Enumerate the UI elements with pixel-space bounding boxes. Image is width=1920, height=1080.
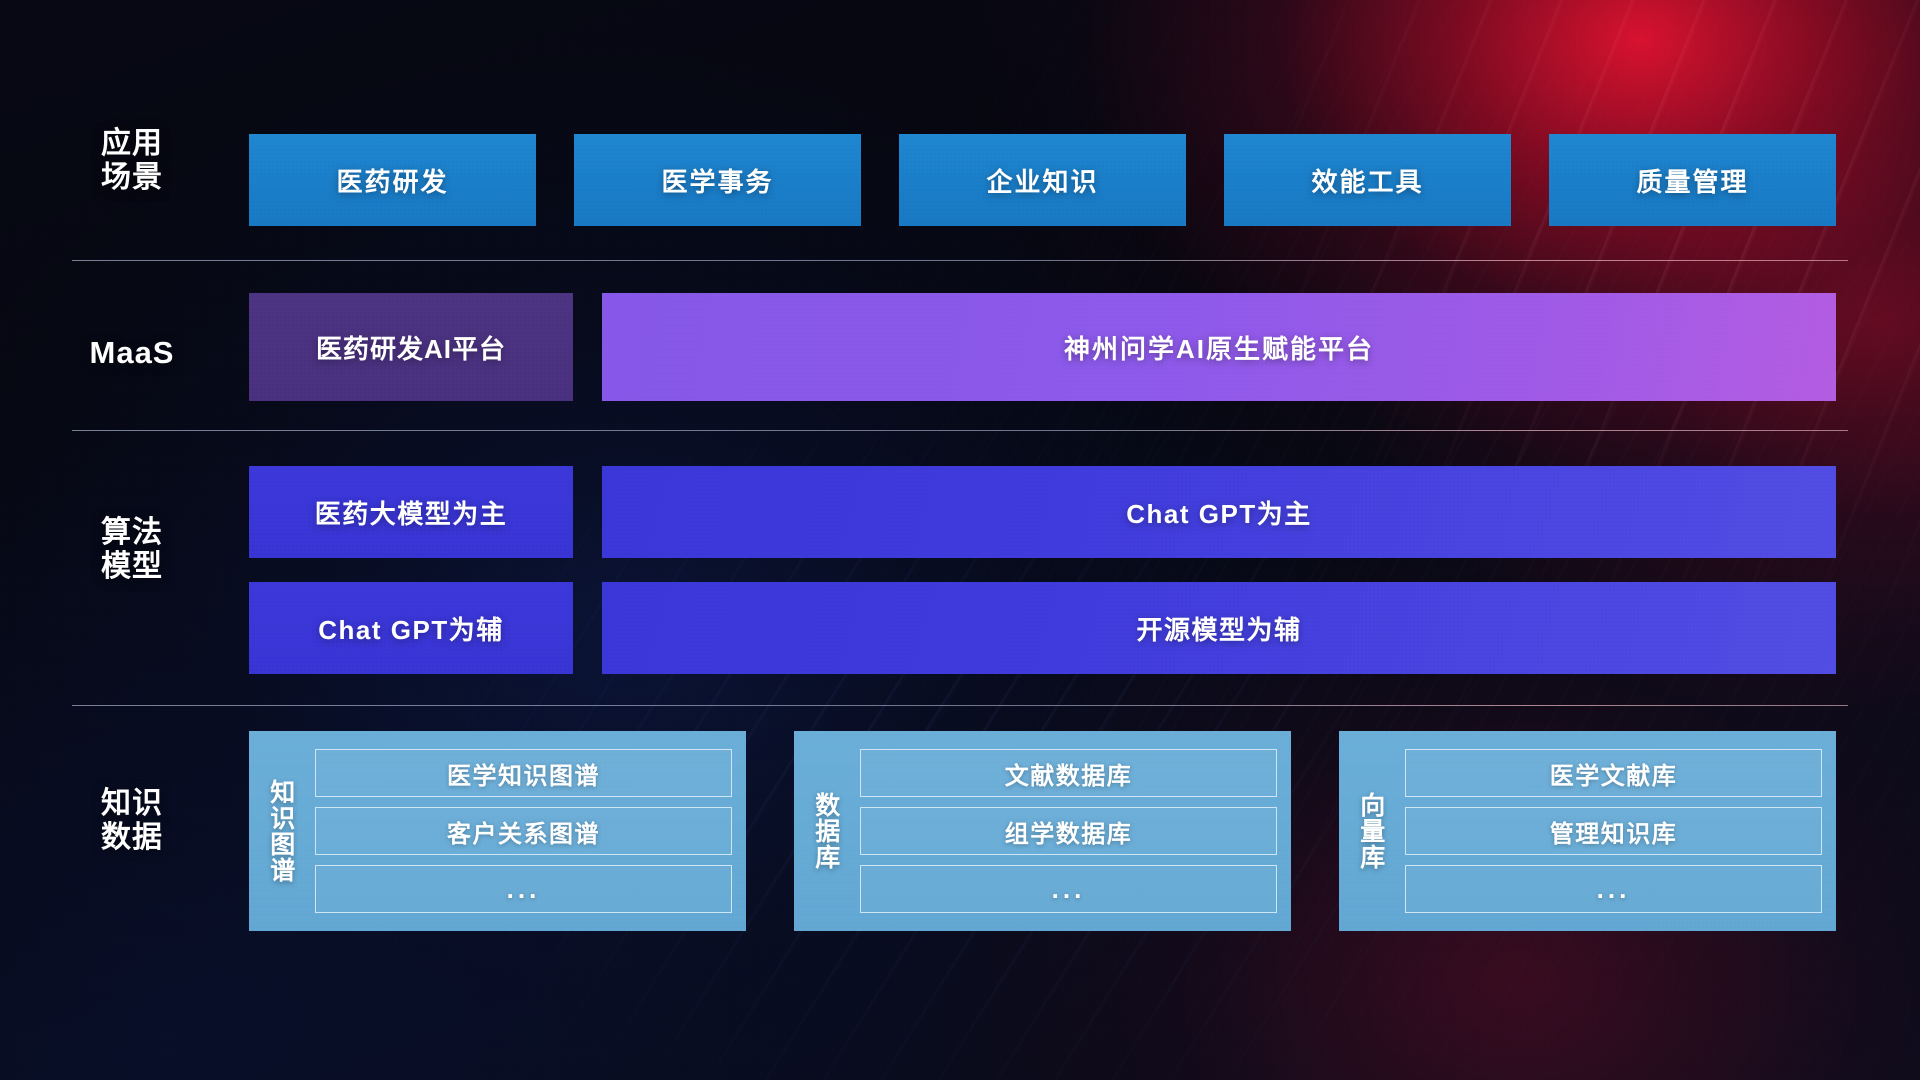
- app-cell-label: 医药研发: [336, 162, 448, 199]
- app-cell-medical-affairs[interactable]: 医学事务: [574, 134, 861, 226]
- architecture-layers: 应用 场景 医药研发 医学事务 企业知识 效能工具 质量管理 MaaS 医药研发…: [0, 0, 1920, 1080]
- row-label-line-1: 应用: [72, 127, 192, 161]
- knowledge-group-vector-store[interactable]: 向量库 医学文献库 管理知识库 ...: [1339, 731, 1836, 931]
- row-label-application-scenarios: 应用 场景: [72, 127, 192, 194]
- app-cell-label: 质量管理: [1636, 162, 1748, 199]
- algo-cell-medicine-large-model-primary[interactable]: 医药大模型为主: [249, 466, 573, 558]
- row-label-line-2: 数据: [72, 821, 192, 855]
- knowledge-item[interactable]: 客户关系图谱: [315, 807, 732, 855]
- algo-cell-label: Chat GPT为主: [1126, 494, 1311, 531]
- knowledge-item-more[interactable]: ...: [1405, 865, 1822, 913]
- knowledge-item[interactable]: 医学文献库: [1405, 749, 1822, 797]
- divider-after-maas: [72, 430, 1848, 431]
- knowledge-item-more[interactable]: ...: [860, 865, 1277, 913]
- knowledge-group-label: 知识图谱: [249, 731, 311, 931]
- divider-after-application-scenarios: [72, 260, 1848, 261]
- knowledge-group-items: 文献数据库 组学数据库 ...: [856, 731, 1291, 931]
- slide-canvas: 应用 场景 医药研发 医学事务 企业知识 效能工具 质量管理 MaaS 医药研发…: [0, 0, 1920, 1080]
- knowledge-item[interactable]: 管理知识库: [1405, 807, 1822, 855]
- app-cell-label: 效能工具: [1311, 162, 1423, 199]
- knowledge-group-items: 医学文献库 管理知识库 ...: [1401, 731, 1836, 931]
- row-label-algorithm-models: 算法 模型: [72, 516, 192, 583]
- knowledge-group-label: 数据库: [794, 731, 856, 931]
- app-cell-label: 企业知识: [986, 162, 1098, 199]
- row-label-knowledge-data: 知识 数据: [72, 787, 192, 854]
- knowledge-group-database[interactable]: 数据库 文献数据库 组学数据库 ...: [794, 731, 1291, 931]
- app-cell-enterprise-knowledge[interactable]: 企业知识: [899, 134, 1186, 226]
- algo-cell-opensource-model-secondary[interactable]: 开源模型为辅: [602, 582, 1836, 674]
- maas-cell-medicine-rd-ai-platform[interactable]: 医药研发AI平台: [249, 293, 573, 401]
- row-label-line-2: 模型: [72, 550, 192, 584]
- knowledge-item[interactable]: 组学数据库: [860, 807, 1277, 855]
- row-label-maas: MaaS: [72, 336, 192, 371]
- algo-cell-chatgpt-secondary[interactable]: Chat GPT为辅: [249, 582, 573, 674]
- knowledge-item-more[interactable]: ...: [315, 865, 732, 913]
- maas-cell-label: 神州问学AI原生赋能平台: [1064, 329, 1374, 366]
- algo-cell-label: 医药大模型为主: [315, 494, 508, 531]
- row-label-line-2: 场景: [72, 161, 192, 195]
- app-cell-efficiency-tools[interactable]: 效能工具: [1224, 134, 1511, 226]
- knowledge-group-items: 医学知识图谱 客户关系图谱 ...: [311, 731, 746, 931]
- maas-cell-label: 医药研发AI平台: [316, 329, 506, 366]
- app-cell-label: 医学事务: [661, 162, 773, 199]
- knowledge-item[interactable]: 医学知识图谱: [315, 749, 732, 797]
- algo-cell-label: 开源模型为辅: [1136, 610, 1301, 647]
- knowledge-group-label: 向量库: [1339, 731, 1401, 931]
- app-cell-quality-management[interactable]: 质量管理: [1549, 134, 1836, 226]
- algo-cell-label: Chat GPT为辅: [318, 610, 503, 647]
- algo-cell-chatgpt-primary[interactable]: Chat GPT为主: [602, 466, 1836, 558]
- row-label-line-1: 算法: [72, 516, 192, 550]
- maas-cell-shenzhou-wenxue-platform[interactable]: 神州问学AI原生赋能平台: [602, 293, 1836, 401]
- row-label-line-1: MaaS: [72, 336, 192, 371]
- knowledge-item[interactable]: 文献数据库: [860, 749, 1277, 797]
- row-label-line-1: 知识: [72, 787, 192, 821]
- divider-after-algorithm-models: [72, 705, 1848, 706]
- knowledge-group-graph[interactable]: 知识图谱 医学知识图谱 客户关系图谱 ...: [249, 731, 746, 931]
- app-cell-medicine-rd[interactable]: 医药研发: [249, 134, 536, 226]
